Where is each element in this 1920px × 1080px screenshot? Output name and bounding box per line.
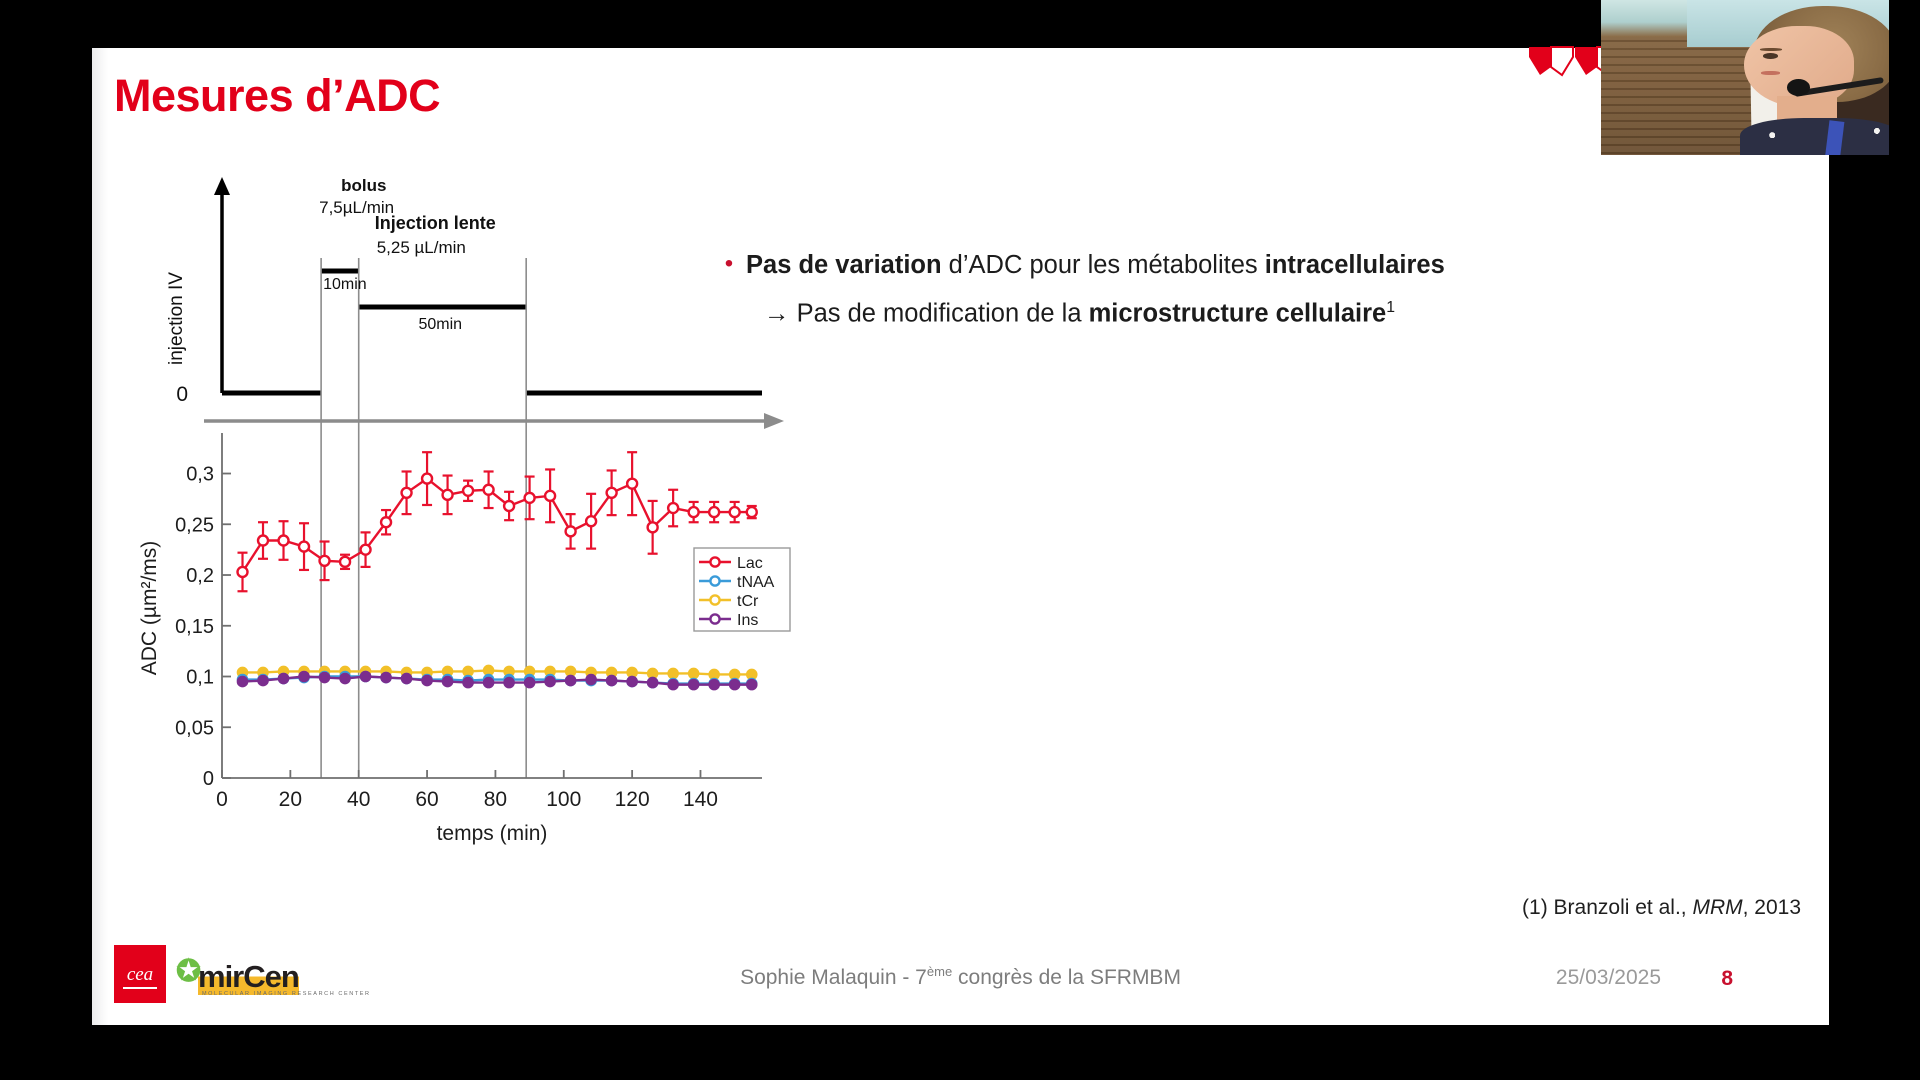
webcam-speaker-shirt: [1740, 118, 1889, 155]
y-tick-label-4: 0,2: [186, 565, 214, 587]
marker-17: [587, 675, 596, 684]
marker-1: [258, 536, 268, 546]
marker-7: [381, 517, 391, 527]
marker-15: [546, 677, 555, 686]
adc-figure: bolus7,5µL/min10minInjection lente5,25 µ…: [102, 153, 802, 853]
bullet-item: • Pas de variation d’ADC pour les métabo…: [712, 248, 1802, 282]
marker-19: [628, 668, 637, 677]
marker-0: [238, 567, 248, 577]
marker-16: [566, 667, 575, 676]
marker-14: [525, 493, 535, 503]
x-tick-label-0: 0: [216, 788, 228, 811]
marker-2: [279, 674, 288, 683]
marker-7: [381, 673, 390, 682]
webcam-video-overlay[interactable]: [1601, 0, 1889, 155]
mircen-logo-icon: ✪ mirCen MOLECULAR IMAGING RESEARCH CENT…: [172, 945, 322, 1003]
legend-label-tcr: tCr: [737, 593, 759, 610]
mircen-tagline: MOLECULAR IMAGING RESEARCH CENTER: [202, 991, 371, 997]
marker-12: [484, 678, 493, 687]
marker-3: [299, 672, 308, 681]
citation-marker: 1: [1386, 299, 1395, 316]
marker-5: [340, 674, 349, 683]
marker-10: [443, 677, 452, 686]
marker-16: [566, 526, 576, 536]
webcam-speaker-brow: [1760, 48, 1782, 51]
marker-21: [668, 503, 678, 513]
adc-chart: bolus7,5µL/min10minInjection lente5,25 µ…: [102, 153, 802, 853]
footer-presenter: Sophie Malaquin - 7ème congrès de la SFR…: [740, 964, 1181, 990]
marker-18: [607, 488, 617, 498]
y-tick-label-3: 0,15: [175, 616, 214, 638]
marker-20: [648, 669, 657, 678]
marker-19: [627, 479, 637, 489]
marker-17: [586, 516, 596, 526]
y-tick-label-2: 0,1: [186, 667, 214, 689]
x-tick-label-7: 140: [683, 788, 718, 811]
webcam-speaker-eye: [1763, 53, 1777, 59]
legend-label-lac: Lac: [737, 555, 763, 572]
marker-25: [747, 507, 757, 517]
marker-23: [710, 670, 719, 679]
marker-0: [238, 677, 247, 686]
marker-12: [484, 666, 493, 675]
legend-label-ins: Ins: [737, 612, 758, 629]
marker-24: [730, 670, 739, 679]
marker-11: [463, 667, 472, 676]
mircen-logo-text: mirCen: [198, 959, 299, 995]
slow-injection-title-label: Injection lente: [375, 213, 496, 233]
bolus-duration-label: 10min: [323, 276, 367, 293]
marker-2: [279, 536, 289, 546]
marker-23: [710, 680, 719, 689]
webcam-speaker: [1733, 6, 1889, 155]
marker-14: [525, 678, 534, 687]
injection-axis-arrowhead: [214, 177, 230, 195]
bullet-emphasis-microstructure: microstructure cellulaire: [1089, 300, 1387, 328]
marker-9: [422, 474, 432, 484]
marker-19: [628, 677, 637, 686]
marker-25: [747, 680, 756, 689]
x-tick-label-3: 60: [415, 788, 438, 811]
marker-4: [320, 556, 330, 566]
bullet-line-2: → Pas de modification de la microstructu…: [764, 291, 1802, 331]
bullet-plain-text: d’ADC pour les métabolites: [942, 251, 1265, 279]
y-tick-label-1: 0,05: [175, 717, 214, 739]
y-tick-label-5: 0,25: [175, 514, 214, 536]
marker-1: [258, 676, 267, 685]
marker-11: [463, 486, 473, 496]
marker-18: [607, 676, 616, 685]
footer-presenter-post: congrès de la SFRMBM: [952, 966, 1181, 989]
reference-prefix: (1) Branzoli et al.,: [1522, 896, 1692, 919]
screen-root: Mesures d’ADC bolus7,5µL/min10minInjecti…: [0, 0, 1920, 1080]
marker-16: [566, 676, 575, 685]
series-lac: [238, 452, 757, 591]
legend-swatch-marker: [710, 557, 719, 566]
marker-13: [504, 678, 513, 687]
marker-21: [669, 669, 678, 678]
legend-label-tnaa: tNAA: [737, 574, 775, 591]
reference-suffix: , 2013: [1743, 896, 1801, 919]
x-tick-label-4: 80: [484, 788, 507, 811]
y-tick-label-6: 0,3: [186, 464, 214, 486]
page-title: Mesures d’ADC: [114, 70, 440, 122]
bullet-list: • Pas de variation d’ADC pour les métabo…: [712, 248, 1802, 331]
legend-swatch-marker: [710, 614, 719, 623]
y-axis-label: ADC (µm²/ms): [138, 541, 161, 676]
y-tick-label-0: 0: [203, 768, 214, 790]
reference-citation: (1) Branzoli et al., MRM, 2013: [1522, 896, 1801, 920]
marker-3: [299, 542, 309, 552]
legend-swatch-marker: [710, 576, 719, 585]
footer-date: 25/03/2025: [1556, 966, 1661, 990]
bullet-emphasis-no-variation: Pas de variation: [746, 251, 942, 279]
footer-logos: cea ✪ mirCen MOLECULAR IMAGING RESEARCH …: [114, 945, 322, 1003]
marker-10: [443, 490, 453, 500]
x-tick-label-6: 120: [615, 788, 650, 811]
arrow-text: → Pas de modification de la: [764, 300, 1089, 328]
marker-20: [648, 522, 658, 532]
legend-swatch-marker: [710, 595, 719, 604]
marker-20: [648, 678, 657, 687]
presentation-slide: Mesures d’ADC bolus7,5µL/min10minInjecti…: [92, 48, 1829, 1025]
reference-journal: MRM: [1692, 896, 1742, 919]
x-axis-label: temps (min): [437, 822, 548, 845]
marker-25: [747, 670, 756, 679]
x-tick-label-2: 40: [347, 788, 370, 811]
marker-11: [463, 678, 472, 687]
footer-presenter-pre: Sophie Malaquin - 7: [740, 966, 927, 989]
bullet-line-1: Pas de variation d’ADC pour les métaboli…: [746, 248, 1445, 282]
marker-8: [402, 488, 412, 498]
marker-4: [320, 673, 329, 682]
marker-12: [484, 485, 494, 495]
x-tick-label-5: 100: [546, 788, 581, 811]
marker-22: [689, 507, 699, 517]
marker-15: [545, 491, 555, 501]
marker-6: [361, 672, 370, 681]
cea-logo-text: cea: [114, 964, 166, 986]
x-tick-label-1: 20: [279, 788, 302, 811]
marker-22: [689, 680, 698, 689]
webcam-speaker-lips: [1761, 71, 1780, 75]
time-arrow-icon: [764, 413, 784, 429]
marker-6: [361, 545, 371, 555]
marker-24: [730, 507, 740, 517]
marker-9: [422, 676, 431, 685]
cea-logo-icon: cea: [114, 945, 166, 1003]
injection-axis-label: injection IV: [166, 272, 187, 365]
bolus-title-label: bolus: [341, 176, 386, 195]
bullet-emphasis-intracellular: intracellulaires: [1265, 251, 1445, 279]
marker-8: [402, 674, 411, 683]
marker-24: [730, 680, 739, 689]
bullet-dot-icon: •: [712, 248, 746, 278]
slow-injection-duration-label: 50min: [418, 316, 462, 333]
marker-22: [689, 669, 698, 678]
footer-page-number: 8: [1721, 967, 1733, 991]
cea-logo-underline: [123, 987, 157, 989]
slow-injection-rate-label: 5,25 µL/min: [377, 238, 466, 257]
marker-23: [709, 507, 719, 517]
marker-13: [504, 501, 514, 511]
marker-5: [340, 557, 350, 567]
injection-zero-label: 0: [176, 383, 188, 406]
marker-21: [669, 680, 678, 689]
footer-ordinal-suffix: ème: [927, 964, 952, 979]
